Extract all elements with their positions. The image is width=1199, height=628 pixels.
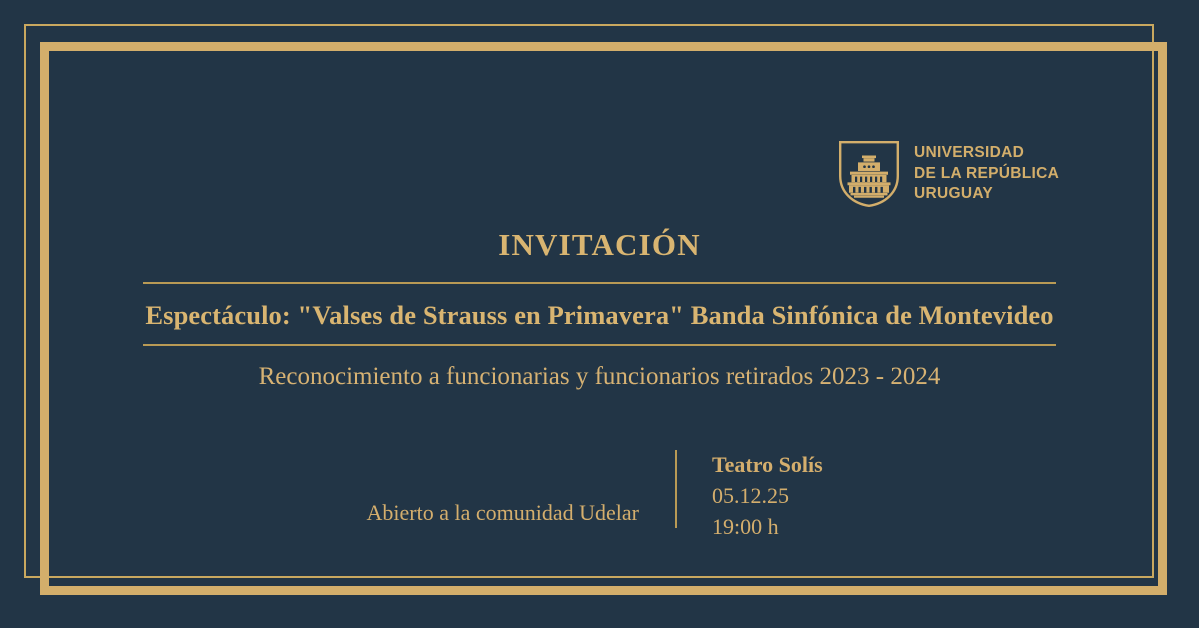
udelar-logo: UNIVERSIDAD DE LA REPÚBLICA URUGUAY — [838, 140, 1059, 208]
event-date: 05.12.25 — [712, 480, 823, 511]
divider-above-title — [143, 282, 1056, 284]
event-subtitle: Reconocimiento a funcionarias y funciona… — [0, 363, 1199, 391]
logo-line-2: DE LA REPÚBLICA — [914, 164, 1059, 184]
udelar-shield-building-icon — [838, 140, 900, 208]
event-title: Espectáculo: "Valses de Strauss en Prima… — [0, 300, 1199, 331]
divider-below-title — [143, 344, 1056, 346]
venue-name: Teatro Solís — [712, 449, 823, 480]
audience-note: Abierto a la comunidad Udelar — [367, 500, 639, 526]
event-details: Teatro Solís 05.12.25 19:00 h — [712, 449, 823, 543]
invitation-kicker: INVITACIÓN — [0, 227, 1199, 263]
logo-line-1: UNIVERSIDAD — [914, 143, 1059, 163]
logo-line-3: URUGUAY — [914, 184, 1059, 204]
invitation-card: UNIVERSIDAD DE LA REPÚBLICA URUGUAY INVI… — [0, 0, 1199, 628]
udelar-logo-text: UNIVERSIDAD DE LA REPÚBLICA URUGUAY — [914, 143, 1059, 204]
event-time: 19:00 h — [712, 511, 823, 542]
vertical-divider — [675, 450, 677, 528]
